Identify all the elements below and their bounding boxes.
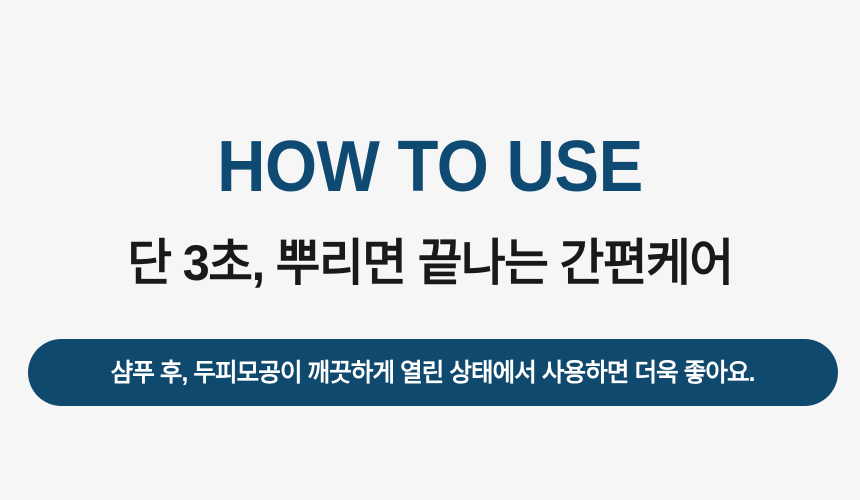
how-to-use-banner: HOW TO USE 단 3초, 뿌리면 끝나는 간편케어 샴푸 후, 두피모공… [0,0,860,500]
status-badge: 샴푸 후, 두피모공이 깨끗하게 열린 상태에서 사용하면 더욱 좋아요. [28,339,838,406]
headline: 단 3초, 뿌리면 끝나는 간편케어 [13,232,847,294]
page-title: HOW TO USE [30,128,830,206]
status-badge-label: 샴푸 후, 두피모공이 깨끗하게 열린 상태에서 사용하면 더욱 좋아요. [111,358,755,388]
